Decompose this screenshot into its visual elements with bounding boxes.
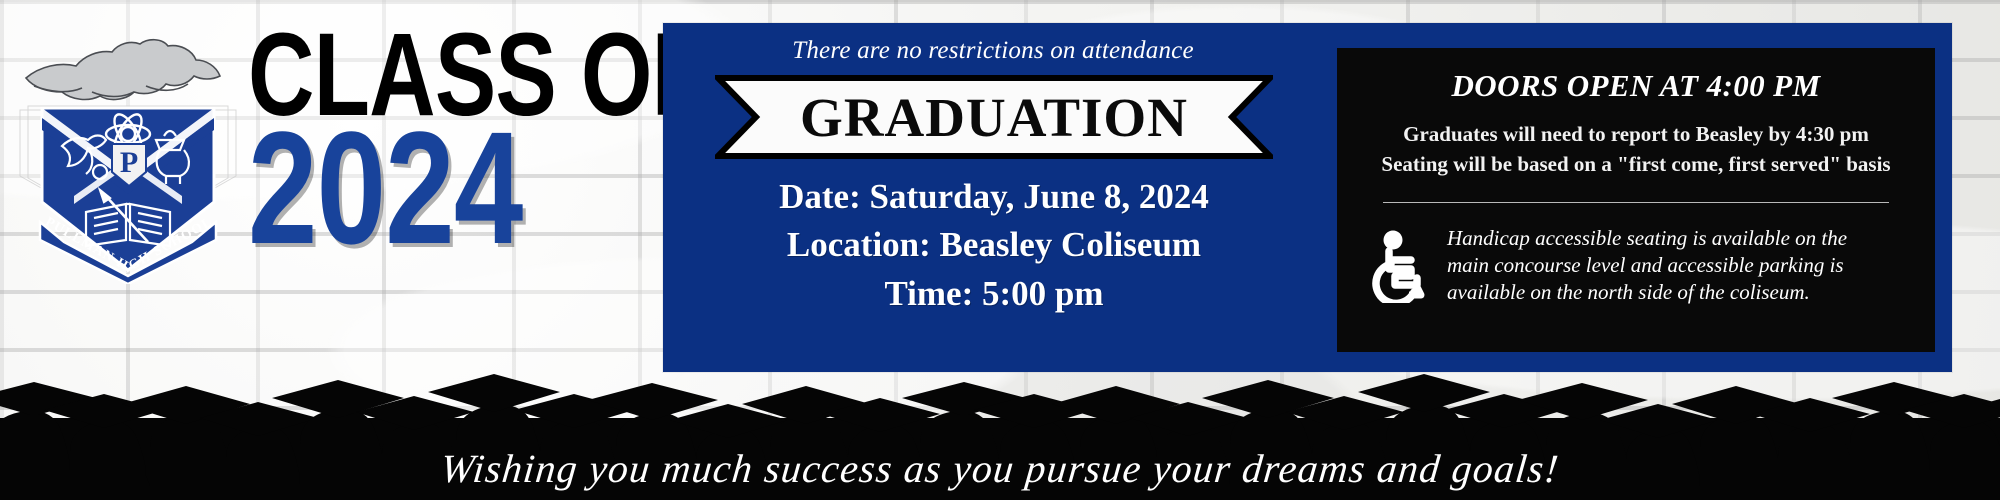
doors-open-heading: DOORS OPEN AT 4:00 PM bbox=[1337, 68, 1935, 104]
headline-year: 2024 bbox=[248, 124, 576, 252]
event-date: Date: Saturday, June 8, 2024 bbox=[663, 173, 1325, 221]
svg-text:P: P bbox=[120, 146, 138, 179]
school-crest: P PULLMAN HIGH SCHOOL PULLMAN HIGH SCHOO… bbox=[14, 26, 242, 284]
attendance-restrictions-note: There are no restrictions on attendance bbox=[663, 37, 1323, 65]
logistics-notes: Graduates will need to report to Beasley… bbox=[1355, 120, 1917, 180]
graduation-banner: P PULLMAN HIGH SCHOOL PULLMAN HIGH SCHOO… bbox=[0, 0, 2000, 500]
event-location: Location: Beasley Coliseum bbox=[663, 221, 1325, 269]
ribbon-label: GRADUATION bbox=[715, 75, 1273, 159]
note-report-time: Graduates will need to report to Beasley… bbox=[1355, 120, 1917, 150]
accessibility-info: Handicap accessible seating is available… bbox=[1367, 225, 1909, 307]
logistics-panel: DOORS OPEN AT 4:00 PM Graduates will nee… bbox=[1337, 48, 1935, 352]
note-seating-policy: Seating will be based on a "first come, … bbox=[1355, 150, 1917, 180]
accessibility-line-2: main concourse level and accessible park… bbox=[1447, 252, 1847, 279]
graduation-ribbon: GRADUATION bbox=[715, 75, 1273, 159]
accessibility-text: Handicap accessible seating is available… bbox=[1447, 225, 1847, 307]
greyhound-icon bbox=[26, 40, 220, 100]
accessibility-line-3: available on the north side of the colis… bbox=[1447, 279, 1847, 306]
class-of-headline: CLASS OF 2024 bbox=[248, 28, 668, 288]
accessibility-line-1: Handicap accessible seating is available… bbox=[1447, 225, 1847, 252]
wheelchair-icon bbox=[1367, 229, 1433, 303]
panel-divider bbox=[1383, 202, 1889, 203]
closing-message: Wishing you much success as you pursue y… bbox=[0, 445, 2000, 492]
graduation-info-panel: There are no restrictions on attendance … bbox=[663, 23, 1952, 372]
event-details: Date: Saturday, June 8, 2024 Location: B… bbox=[663, 173, 1325, 318]
event-time: Time: 5:00 pm bbox=[663, 270, 1325, 318]
